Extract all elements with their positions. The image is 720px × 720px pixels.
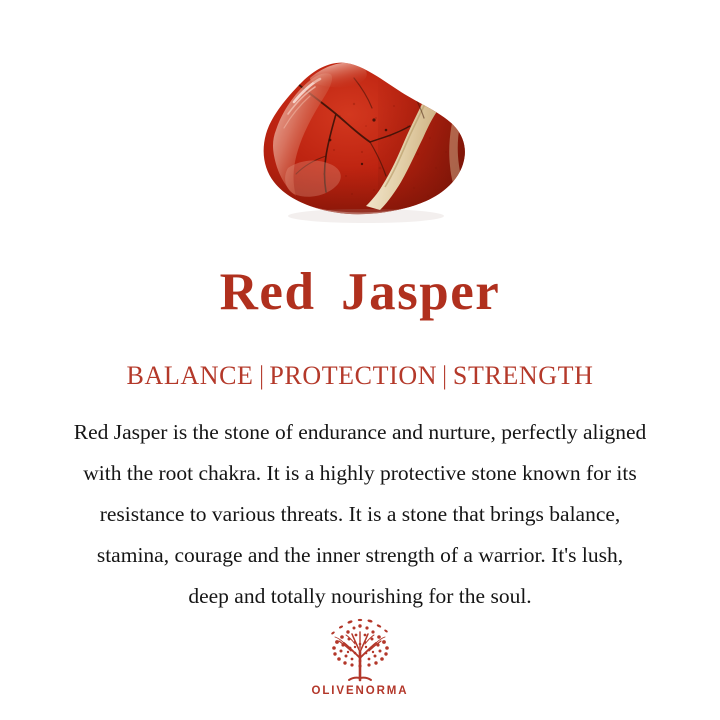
keyword-tagline: BALANCE|PROTECTION|STRENGTH (0, 360, 720, 392)
page-title: Red Jasper (0, 262, 720, 322)
keyword-separator-2: | (443, 360, 448, 392)
description-line-1: Red Jasper is the stone of endurance and… (10, 412, 710, 453)
keyword-balance: BALANCE (127, 361, 254, 390)
product-description: Red Jasper is the stone of endurance and… (10, 412, 710, 617)
stone-top-highlight (310, 63, 367, 88)
keyword-strength: STRENGTH (453, 361, 594, 390)
red-jasper-info-card: Red Jasper BALANCE|PROTECTION|STRENGTH R… (0, 0, 720, 720)
brand-name: OLIVENORMA (0, 685, 720, 697)
keyword-separator-1: | (259, 360, 264, 392)
description-line-5: deep and totally nourishing for the soul… (10, 576, 710, 617)
keyword-protection: PROTECTION (269, 361, 437, 390)
olive-tree-logo-icon (322, 618, 398, 682)
red-jasper-stone-image (258, 56, 474, 228)
description-line-3: resistance to various threats. It is a s… (10, 494, 710, 535)
red-jasper-stone-icon (258, 56, 474, 228)
description-line-4: stamina, courage and the inner strength … (10, 535, 710, 576)
description-line-2: with the root chakra. It is a highly pro… (10, 453, 710, 494)
brand-logo: OLIVENORMA (0, 618, 720, 697)
